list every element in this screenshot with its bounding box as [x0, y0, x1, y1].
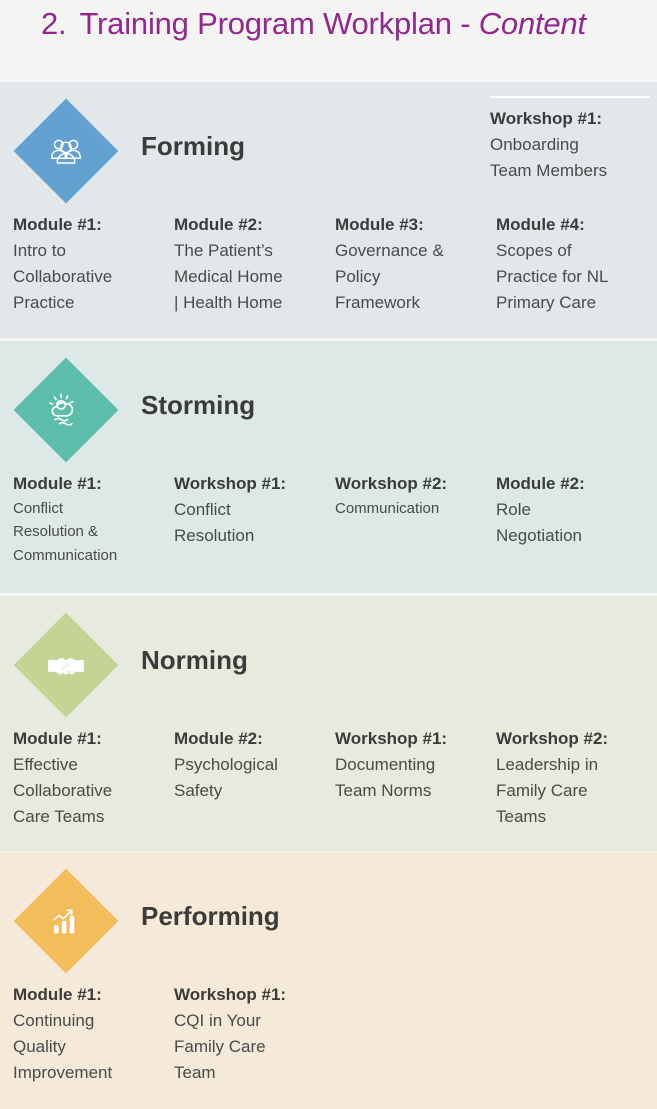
- item-body-line: Policy: [335, 264, 493, 290]
- stage-diamond: [13, 868, 118, 973]
- item-title: Module #2:: [174, 727, 332, 752]
- item-body-line: Improvement: [13, 1060, 171, 1086]
- stage-diamond: [13, 612, 118, 717]
- item-body: The Patient’sMedical Home| Health Home: [174, 238, 332, 317]
- item-body-line: Communication: [335, 497, 493, 521]
- item-body-line: Teams: [496, 804, 654, 830]
- stage-item-column: Module #2:PsychologicalSafety: [174, 727, 332, 804]
- stage-item-column: Workshop #1:ConflictResolution: [174, 472, 332, 549]
- slide-title-bar: 2.Training Program Workplan - Content: [0, 0, 657, 82]
- featured-workshop-title: Workshop #1:: [490, 107, 650, 132]
- stage-band-storming: StormingModule #1:ConflictResolution &Co…: [0, 341, 657, 593]
- item-body: Intro toCollaborativePractice: [13, 238, 171, 317]
- stage-band-header: Performing: [0, 852, 657, 983]
- item-title: Module #3:: [335, 213, 493, 238]
- item-title: Workshop #2:: [335, 472, 493, 497]
- item-title: Module #2:: [496, 472, 654, 497]
- item-body: CQI in YourFamily CareTeam: [174, 1008, 332, 1087]
- item-body-line: Practice for NL: [496, 264, 654, 290]
- stage-items-row: Module #1:EffectiveCollaborativeCare Tea…: [0, 727, 657, 849]
- stage-name-label: Performing: [141, 901, 280, 932]
- item-body-line: Communication: [13, 544, 171, 568]
- item-body-line: Scopes of: [496, 238, 654, 264]
- stage-diamond: [13, 98, 118, 203]
- stage-name-label: Forming: [141, 131, 245, 162]
- item-body-line: | Health Home: [174, 290, 332, 316]
- item-body-line: Negotiation: [496, 523, 654, 549]
- item-body-line: Care Teams: [13, 804, 171, 830]
- item-body-line: Team Norms: [335, 778, 493, 804]
- item-body-line: Resolution &: [13, 520, 171, 544]
- item-title: Module #1:: [13, 727, 171, 752]
- item-title: Workshop #2:: [496, 727, 654, 752]
- item-body-line: Primary Care: [496, 290, 654, 316]
- featured-workshop-line: Team Members: [490, 158, 650, 184]
- stage-item-column: Module #2:RoleNegotiation: [496, 472, 654, 549]
- item-body: RoleNegotiation: [496, 497, 654, 550]
- item-body: Communication: [335, 497, 493, 521]
- item-body: PsychologicalSafety: [174, 752, 332, 805]
- handshake-icon: [44, 643, 88, 687]
- stage-item-column: Module #1:Intro toCollaborativePractice: [13, 213, 171, 317]
- item-body-line: Conflict: [174, 497, 332, 523]
- stage-items-row: Module #1:Intro toCollaborativePracticeM…: [0, 213, 657, 335]
- stage-band-header: FormingWorkshop #1:OnboardingTeam Member…: [0, 82, 657, 213]
- stage-name-label: Norming: [141, 645, 248, 676]
- stage-diamond: [13, 357, 118, 462]
- item-body: ConflictResolution &Communication: [13, 497, 171, 568]
- stage-name-label: Storming: [141, 390, 255, 421]
- item-body-line: Safety: [174, 778, 332, 804]
- item-body-line: Team: [174, 1060, 332, 1086]
- item-title: Module #1:: [13, 983, 171, 1008]
- stage-item-column: Module #1:EffectiveCollaborativeCare Tea…: [13, 727, 171, 831]
- stage-item-column: Module #4:Scopes ofPractice for NLPrimar…: [496, 213, 654, 317]
- item-body-line: Conflict: [13, 497, 171, 521]
- slide-canvas: 2.Training Program Workplan - Content Fo…: [0, 0, 657, 1109]
- stage-item-column: Workshop #2:Communication: [335, 472, 493, 520]
- item-body-line: Governance &: [335, 238, 493, 264]
- stage-band-norming: NormingModule #1:EffectiveCollaborativeC…: [0, 596, 657, 851]
- featured-workshop: Workshop #1:OnboardingTeam Members: [490, 96, 650, 184]
- item-body-line: Medical Home: [174, 264, 332, 290]
- bar-chart-growth-icon: [44, 899, 88, 943]
- item-body-line: Family Care: [174, 1034, 332, 1060]
- item-body: Governance &PolicyFramework: [335, 238, 493, 317]
- item-title: Module #1:: [13, 213, 171, 238]
- item-body-line: Intro to: [13, 238, 171, 264]
- stage-item-column: Module #2:The Patient’sMedical Home| Hea…: [174, 213, 332, 317]
- item-body-line: The Patient’s: [174, 238, 332, 264]
- item-body-line: Resolution: [174, 523, 332, 549]
- item-body: Scopes ofPractice for NLPrimary Care: [496, 238, 654, 317]
- item-body-line: Family Care: [496, 778, 654, 804]
- item-body: EffectiveCollaborativeCare Teams: [13, 752, 171, 831]
- item-body-line: Leadership in: [496, 752, 654, 778]
- item-body-line: Role: [496, 497, 654, 523]
- stage-band-forming: FormingWorkshop #1:OnboardingTeam Member…: [0, 82, 657, 338]
- item-body: Leadership inFamily CareTeams: [496, 752, 654, 831]
- stage-items-row: Module #1:ConflictResolution &Communicat…: [0, 472, 657, 593]
- item-body-line: Framework: [335, 290, 493, 316]
- item-title: Workshop #1:: [174, 983, 332, 1008]
- item-body-line: CQI in Your: [174, 1008, 332, 1034]
- stage-item-column: Workshop #1:DocumentingTeam Norms: [335, 727, 493, 804]
- item-body-line: Documenting: [335, 752, 493, 778]
- item-body-line: Collaborative: [13, 264, 171, 290]
- item-title: Workshop #1:: [335, 727, 493, 752]
- title-number: 2.: [41, 6, 66, 41]
- stage-band-header: Norming: [0, 596, 657, 727]
- item-title: Module #2:: [174, 213, 332, 238]
- item-body-line: Collaborative: [13, 778, 171, 804]
- item-title: Module #1:: [13, 472, 171, 497]
- item-body: DocumentingTeam Norms: [335, 752, 493, 805]
- item-body-line: Practice: [13, 290, 171, 316]
- item-body-line: Effective: [13, 752, 171, 778]
- item-body: ContinuingQualityImprovement: [13, 1008, 171, 1087]
- title-emphasis: Content: [479, 6, 586, 41]
- item-body-line: Continuing: [13, 1008, 171, 1034]
- page-title: 2.Training Program Workplan - Content: [41, 6, 586, 42]
- item-title: Module #4:: [496, 213, 654, 238]
- stage-items-row: Module #1:ContinuingQualityImprovementWo…: [0, 983, 657, 1105]
- title-main: Training Program Workplan -: [79, 6, 478, 41]
- stage-band-performing: PerformingModule #1:ContinuingQualityImp…: [0, 852, 657, 1109]
- stage-item-column: Module #1:ConflictResolution &Communicat…: [13, 472, 171, 567]
- item-body-line: Psychological: [174, 752, 332, 778]
- group-people-icon: [44, 129, 88, 173]
- item-body-line: Quality: [13, 1034, 171, 1060]
- stage-item-column: Workshop #2:Leadership inFamily CareTeam…: [496, 727, 654, 831]
- stage-item-column: Module #1:ContinuingQualityImprovement: [13, 983, 171, 1087]
- featured-workshop-line: Onboarding: [490, 132, 650, 158]
- stage-band-header: Storming: [0, 341, 657, 472]
- item-body: ConflictResolution: [174, 497, 332, 550]
- stage-item-column: Module #3:Governance &PolicyFramework: [335, 213, 493, 317]
- storm-weather-icon: [44, 388, 88, 432]
- item-title: Workshop #1:: [174, 472, 332, 497]
- stage-item-column: Workshop #1:CQI in YourFamily CareTeam: [174, 983, 332, 1087]
